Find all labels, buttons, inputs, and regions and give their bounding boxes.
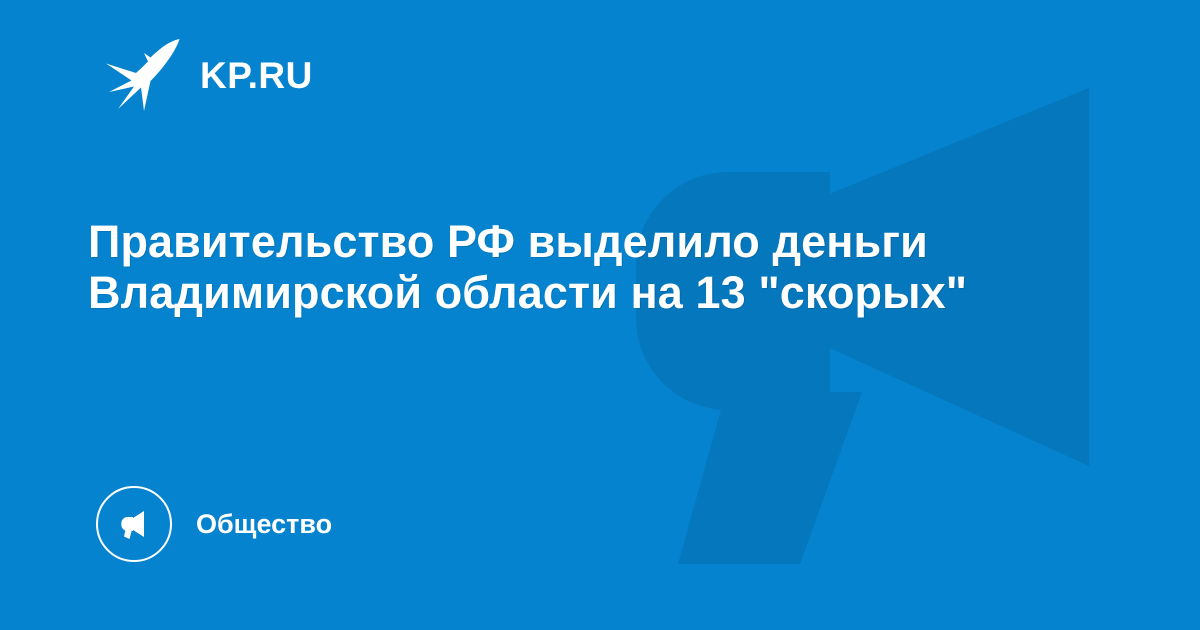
swallow-bird-icon bbox=[104, 37, 184, 113]
headline: Правительство РФ выделило деньги Владими… bbox=[88, 216, 1018, 318]
brand-logo[interactable]: KP.RU bbox=[104, 36, 313, 114]
category-badge bbox=[96, 486, 172, 562]
category-label: Общество bbox=[196, 511, 332, 538]
share-card: KP.RU Правительство РФ выделило деньги В… bbox=[0, 0, 1200, 630]
category-chip[interactable]: Общество bbox=[96, 485, 332, 563]
brand-name: KP.RU bbox=[200, 57, 313, 94]
megaphone-icon bbox=[114, 504, 154, 544]
